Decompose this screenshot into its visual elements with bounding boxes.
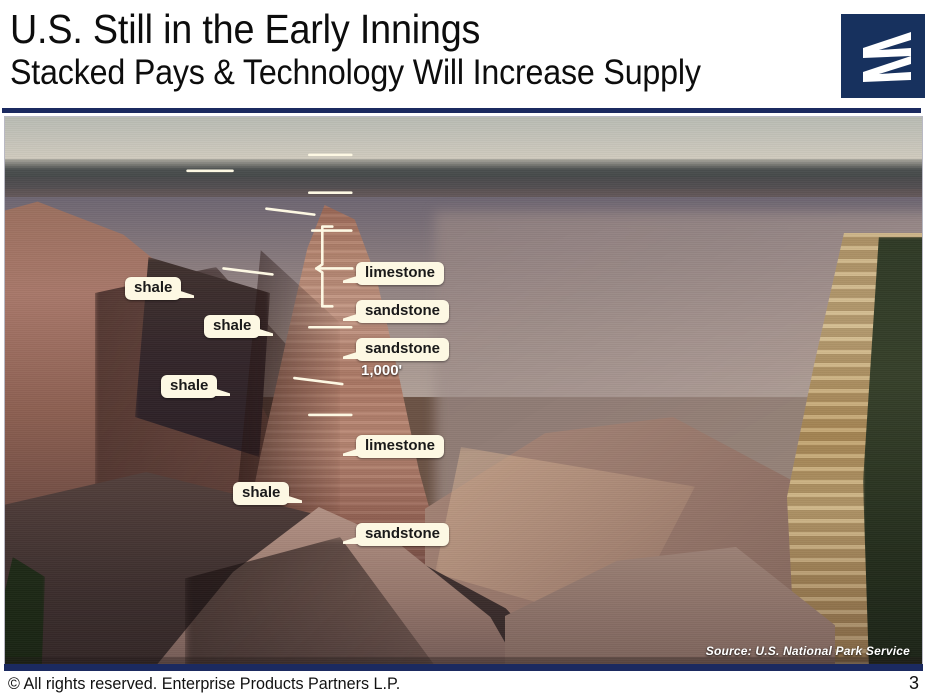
slide-header: U.S. Still in the Early Innings Stacked … (0, 0, 931, 112)
callout-sandstone-3[interactable]: sandstone (356, 523, 449, 546)
slide-subtitle: Stacked Pays & Technology Will Increase … (10, 52, 764, 94)
left-pine-trees (5, 557, 45, 668)
slide-footer: © All rights reserved. Enterprise Produc… (0, 671, 931, 700)
enterprise-logo-icon (841, 14, 925, 98)
callout-label: shale (170, 377, 208, 394)
callout-sandstone-1[interactable]: sandstone (356, 300, 449, 323)
title-block: U.S. Still in the Early Innings Stacked … (10, 6, 830, 94)
callout-shale-2[interactable]: shale (204, 315, 260, 338)
callout-sandstone-2[interactable]: sandstone (356, 338, 449, 361)
callout-label: shale (134, 279, 172, 296)
callout-shale-3[interactable]: shale (161, 375, 217, 398)
callout-label: sandstone (365, 340, 440, 357)
callout-shale-4[interactable]: shale (233, 482, 289, 505)
photo-panel: shale limestone sandstone shale sandston… (4, 116, 923, 669)
callout-label: limestone (365, 264, 435, 281)
callout-limestone-1[interactable]: limestone (356, 262, 444, 285)
copyright-text: © All rights reserved. Enterprise Produc… (8, 674, 400, 694)
callout-shale-1[interactable]: shale (125, 277, 181, 300)
page-number: 3 (909, 673, 919, 694)
callout-limestone-2[interactable]: limestone (356, 435, 444, 458)
header-divider-rule (2, 108, 921, 113)
callout-label: sandstone (365, 302, 440, 319)
callout-label: shale (242, 484, 280, 501)
slide-title: U.S. Still in the Early Innings (10, 6, 764, 52)
photo-bottom-accent-band (4, 664, 923, 671)
measurement-label: 1,000' (361, 362, 402, 379)
canyon-photograph: shale limestone sandstone shale sandston… (5, 117, 922, 668)
callout-label: sandstone (365, 525, 440, 542)
callout-label: shale (213, 317, 251, 334)
photo-source-credit: Source: U.S. National Park Service (706, 644, 910, 658)
callout-label: limestone (365, 437, 435, 454)
